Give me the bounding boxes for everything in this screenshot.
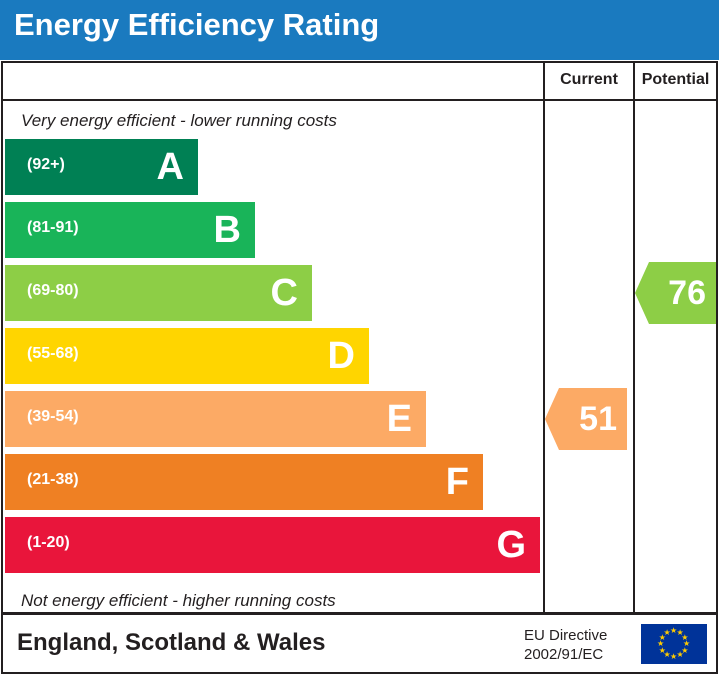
band-letter-d: D [328, 330, 355, 382]
band-bar-g: (1-20)G [5, 517, 540, 573]
caption-inefficient: Not energy efficient - higher running co… [21, 591, 336, 611]
rating-chart: Current Potential Very energy efficient … [1, 61, 718, 614]
eu-flag-icon: ★★★★★★★★★★★★ [641, 624, 707, 664]
rating-marker-potential: 76 [635, 262, 716, 324]
band-range-e: (39-54) [27, 408, 79, 426]
footer: England, Scotland & Wales EU Directive 2… [1, 613, 718, 674]
band-range-d: (55-68) [27, 345, 79, 363]
epc-certificate: Energy Efficiency Rating Current Potenti… [0, 0, 719, 675]
band-bar-c: (69-80)C [5, 265, 312, 321]
band-bar-f: (21-38)F [5, 454, 483, 510]
band-letter-b: B [214, 204, 241, 256]
band-range-c: (69-80) [27, 282, 79, 300]
eu-star-icon: ★ [664, 629, 671, 637]
footer-directive-line2: 2002/91/EC [524, 645, 607, 664]
band-letter-e: E [387, 393, 412, 445]
footer-directive: EU Directive 2002/91/EC [524, 626, 607, 664]
column-header-potential: Potential [635, 71, 716, 89]
band-range-b: (81-91) [27, 219, 79, 237]
column-divider-current [543, 63, 545, 612]
band-letter-c: C [271, 267, 298, 319]
band-letter-g: G [496, 519, 526, 571]
rating-marker-current: 51 [545, 388, 627, 450]
band-bar-e: (39-54)E [5, 391, 426, 447]
band-range-a: (92+) [27, 156, 65, 174]
band-range-g: (1-20) [27, 534, 70, 552]
rating-value-current: 51 [579, 400, 617, 439]
band-range-f: (21-38) [27, 471, 79, 489]
band-bar-b: (81-91)B [5, 202, 255, 258]
column-header-current: Current [545, 71, 633, 89]
band-bar-d: (55-68)D [5, 328, 369, 384]
band-bars: (92+)A(81-91)B(69-80)C(55-68)D(39-54)E(2… [5, 139, 541, 584]
footer-directive-line1: EU Directive [524, 626, 607, 645]
eu-star-icon: ★ [677, 651, 684, 659]
title-bar: Energy Efficiency Rating [0, 0, 719, 60]
rating-value-potential: 76 [668, 274, 706, 313]
header-divider [3, 99, 716, 101]
band-letter-f: F [446, 456, 469, 508]
page-title: Energy Efficiency Rating [14, 7, 379, 43]
band-bar-a: (92+)A [5, 139, 198, 195]
footer-region: England, Scotland & Wales [17, 629, 325, 657]
eu-star-icon: ★ [670, 653, 677, 661]
caption-efficient: Very energy efficient - lower running co… [21, 111, 337, 131]
band-letter-a: A [157, 141, 184, 193]
column-divider-potential [633, 63, 635, 612]
